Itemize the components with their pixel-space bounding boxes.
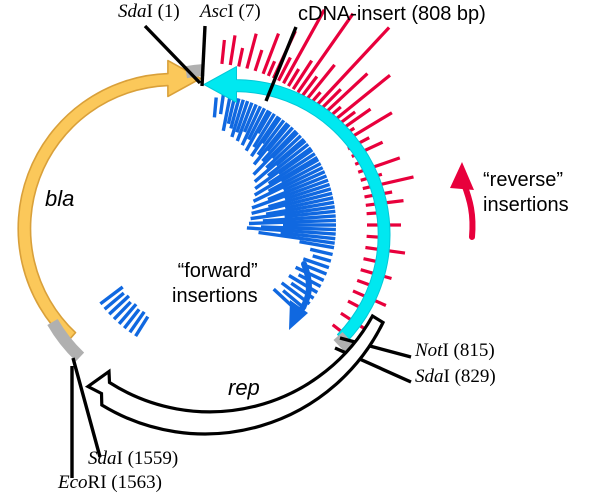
plasmid-diagram-svg [0,0,600,498]
label-gene-bla: bla [45,186,74,212]
insertion-tick [124,309,139,328]
label-cdna-insert: cDNA-insert (808 bp) [298,3,486,26]
insertion-tick [324,74,368,115]
reverse-line-1: “reverse” [483,168,569,193]
label-gene-rep: rep [228,375,260,401]
insertion-tick [239,48,243,67]
label-forward-insertions: “forward” insertions [172,259,258,309]
insertion-tick [313,256,331,261]
pointer-sda-1559 [73,358,100,457]
insertion-tick [230,35,235,65]
insertion-tick [268,61,274,76]
label-sda-829: SdaI (829) [415,366,496,388]
forward-line-1: “forward” [172,259,258,284]
insertion-tick [222,40,225,64]
label-eco-1563: EcoRI (1563) [58,472,162,494]
insertion-tick [221,94,224,114]
insertion-tick [310,249,332,254]
label-sda-1559: SdaI (1559) [88,448,178,470]
label-asc-7: AscI (7) [200,1,261,23]
insertion-tick [303,77,317,96]
insertion-tick [316,28,390,107]
insertion-tick [214,98,216,118]
insertion-tick [247,34,256,69]
forward-line-2: insertions [172,284,258,309]
insertion-tick [223,97,230,130]
insertion-tick [249,220,336,223]
label-sda-1: SdaI (1) [118,1,180,23]
pointer-asc-7 [202,26,205,86]
reverse-line-2: insertions [483,193,569,218]
label-reverse-insertions: “reverse” insertions [483,168,569,218]
label-not-815: NotI (815) [415,340,495,362]
insertion-tick [114,302,131,319]
plasmid-map-figure: SdaI (1) AscI (7) cDNA-insert (808 bp) N… [0,0,600,498]
insertion-tick [130,312,144,333]
insertion-tick [255,50,262,71]
reverse-insertions-arrow [450,162,474,237]
